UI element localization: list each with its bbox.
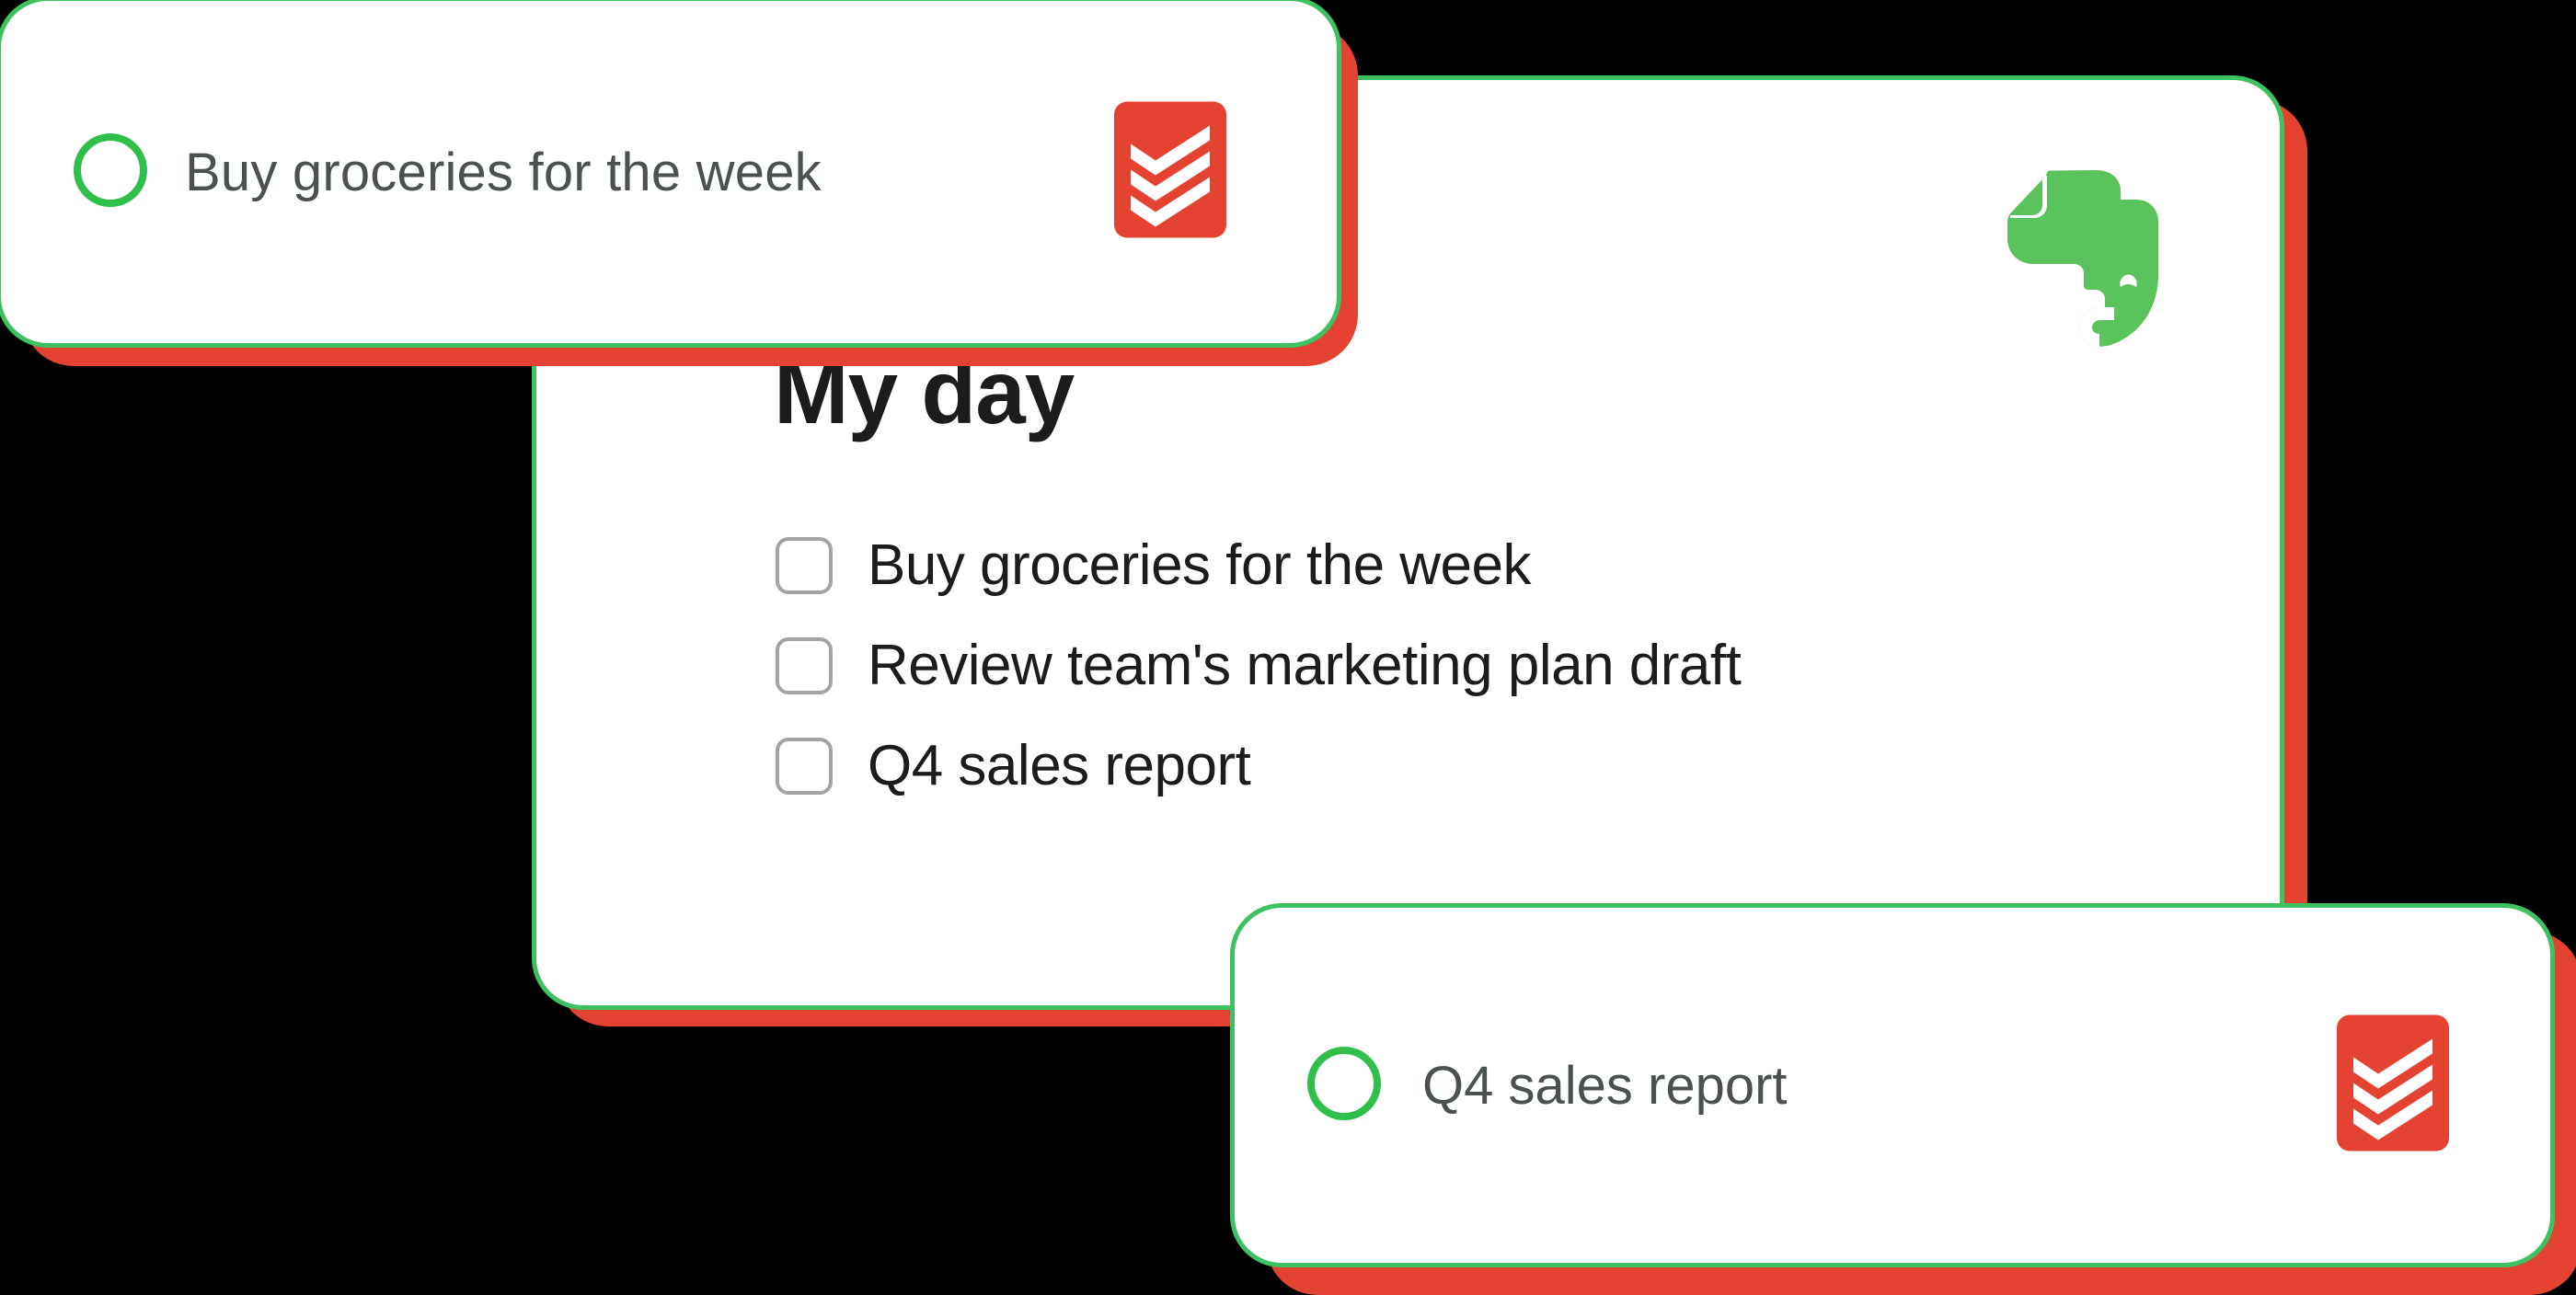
task-list: Buy groceries for the week Review team's… bbox=[776, 533, 1741, 798]
bottom-notification-card[interactable]: Q4 sales report bbox=[1230, 903, 2555, 1267]
list-item-label: Buy groceries for the week bbox=[868, 533, 1531, 598]
canvas: My day Buy groceries for the week Review… bbox=[0, 0, 2576, 1277]
checkbox-icon[interactable] bbox=[776, 637, 833, 694]
list-item[interactable]: Buy groceries for the week bbox=[776, 533, 1741, 598]
evernote-icon bbox=[1996, 165, 2162, 353]
checkbox-icon[interactable] bbox=[776, 738, 833, 795]
circle-outline-icon[interactable] bbox=[1306, 1046, 1382, 1126]
list-item-label: Q4 sales report bbox=[868, 733, 1250, 798]
todoist-icon bbox=[1114, 102, 1226, 243]
bottom-notification-label: Q4 sales report bbox=[1422, 1055, 1788, 1117]
top-notification-card[interactable]: Buy groceries for the week bbox=[0, 0, 1341, 348]
checkbox-icon[interactable] bbox=[776, 537, 833, 594]
list-item[interactable]: Review team's marketing plan draft bbox=[776, 633, 1741, 698]
list-item[interactable]: Q4 sales report bbox=[776, 733, 1741, 798]
list-item-label: Review team's marketing plan draft bbox=[868, 633, 1741, 698]
todoist-icon bbox=[2337, 1015, 2449, 1156]
top-notification-label: Buy groceries for the week bbox=[185, 142, 822, 203]
circle-outline-icon[interactable] bbox=[73, 132, 148, 212]
